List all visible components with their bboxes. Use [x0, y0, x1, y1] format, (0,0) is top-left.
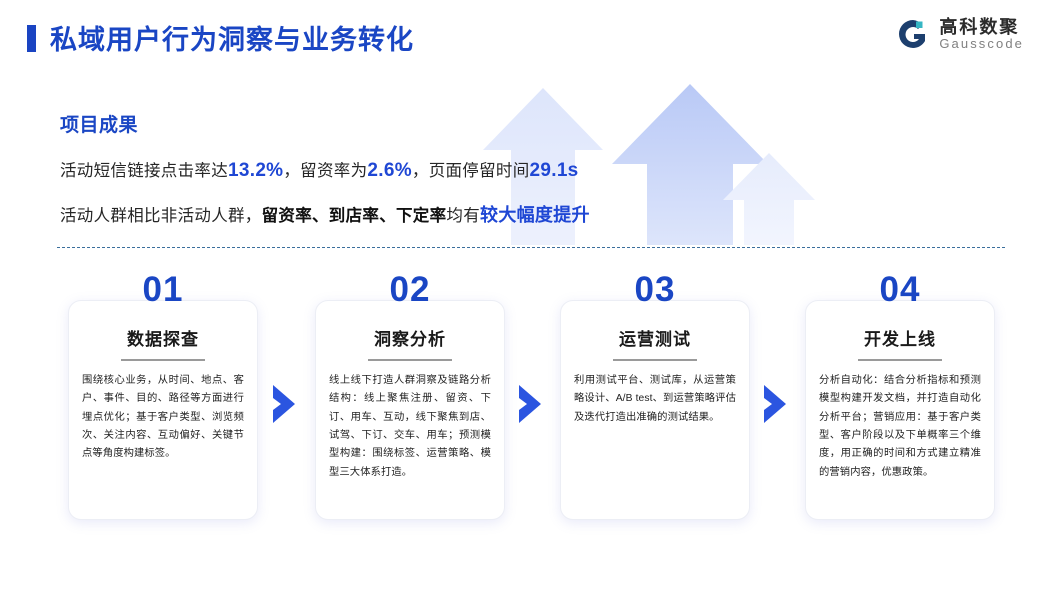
results-line-2-seg-2: 均有	[446, 207, 480, 225]
results-line-1-seg-2: ，留资率为	[283, 162, 367, 180]
metric-lead-rate: 2.6%	[367, 160, 412, 181]
logo-name-en: Gausscode	[939, 37, 1024, 51]
step-body-01: 围绕核心业务，从时间、地点、客户、事件、目的、路径等方面进行埋点优化；基于客户类…	[82, 372, 244, 464]
gausscode-logo-icon	[895, 16, 931, 52]
step-body-04: 分析自动化：结合分析指标和预测模型构建开发文档，并打造自动化分析平台；营销应用：…	[819, 372, 981, 482]
step-title-02: 洞察分析	[329, 325, 491, 350]
metric-dwell-time: 29.1s	[530, 160, 579, 181]
step-card-body-04[interactable]: 开发上线 分析自动化：结合分析指标和预测模型构建开发文档，并打造自动化分析平台；…	[805, 300, 995, 520]
chevron-right-icon-3	[759, 382, 793, 426]
results-line-2-highlight: 较大幅度提升	[480, 205, 590, 225]
step-number-04: 04	[805, 272, 995, 307]
steps-row: 01 数据探查 围绕核心业务，从时间、地点、客户、事件、目的、路径等方面进行埋点…	[0, 272, 1048, 532]
logo-name-cn: 高科数聚	[939, 18, 1024, 37]
step-rule-03	[613, 359, 697, 361]
step-rule-02	[368, 359, 452, 361]
title-marker-bar	[27, 25, 36, 52]
logo-text-group: 高科数聚 Gausscode	[939, 18, 1024, 51]
step-number-01: 01	[68, 272, 258, 307]
results-heading: 项目成果	[60, 110, 760, 137]
metric-click-rate: 13.2%	[228, 160, 283, 181]
results-line-1-seg-1: 活动短信链接点击率达	[60, 162, 228, 180]
section-divider	[57, 247, 1005, 248]
step-number-02: 02	[315, 272, 505, 307]
results-line-2-seg-1: 活动人群相比非活动人群，	[60, 207, 262, 225]
chevron-right-icon-1	[268, 382, 302, 426]
chevron-right-icon-2	[514, 382, 548, 426]
step-title-01: 数据探查	[82, 325, 244, 350]
results-line-2-bold: 留资率、到店率、下定率	[262, 207, 447, 225]
step-body-02: 线上线下打造人群洞察及链路分析结构：线上聚焦注册、留资、下订、用车、互动，线下聚…	[329, 372, 491, 482]
results-block: 项目成果 活动短信链接点击率达13.2%，留资率为2.6%，页面停留时间29.1…	[60, 110, 760, 246]
step-rule-04	[858, 359, 942, 361]
results-line-1-seg-3: ，页面停留时间	[412, 162, 530, 180]
results-line-2: 活动人群相比非活动人群，留资率、到店率、下定率均有较大幅度提升	[60, 201, 760, 227]
step-card-body-02[interactable]: 洞察分析 线上线下打造人群洞察及链路分析结构：线上聚焦注册、留资、下订、用车、互…	[315, 300, 505, 520]
page-title: 私域用户行为洞察与业务转化	[50, 18, 414, 57]
results-line-1: 活动短信链接点击率达13.2%，留资率为2.6%，页面停留时间29.1s	[60, 157, 760, 182]
step-number-03: 03	[560, 272, 750, 307]
step-card-body-01[interactable]: 数据探查 围绕核心业务，从时间、地点、客户、事件、目的、路径等方面进行埋点优化；…	[68, 300, 258, 520]
slide-header: 私域用户行为洞察与业务转化 高科数聚 Gausscode	[0, 0, 1048, 80]
brand-logo: 高科数聚 Gausscode	[895, 16, 1024, 52]
step-body-03: 利用测试平台、测试库，从运营策略设计、A/B test、到运营策略评估及迭代打造…	[574, 372, 736, 427]
step-rule-01	[121, 359, 205, 361]
step-title-03: 运营测试	[574, 325, 736, 350]
step-card-body-03[interactable]: 运营测试 利用测试平台、测试库，从运营策略设计、A/B test、到运营策略评估…	[560, 300, 750, 520]
step-title-04: 开发上线	[819, 325, 981, 350]
